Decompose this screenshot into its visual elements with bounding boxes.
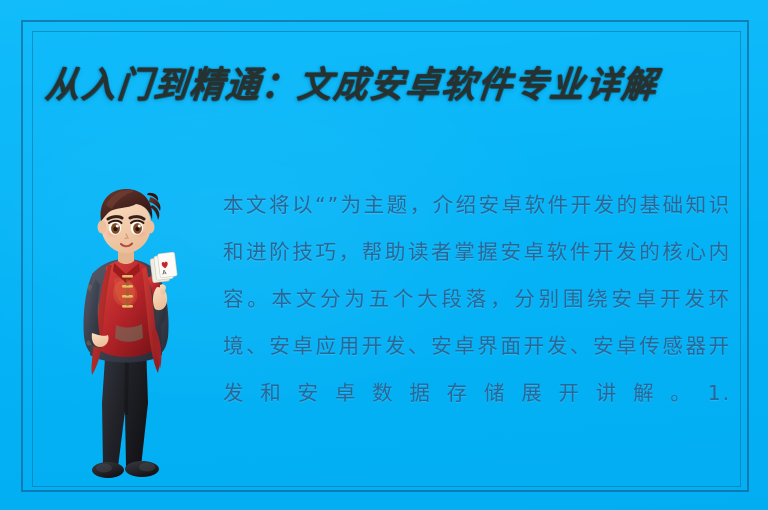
character-illustration: A [62,175,194,480]
poster-canvas: 从入门到精通：文成安卓软件专业详解 [0,0,768,510]
page-title: 从入门到精通：文成安卓软件专业详解 [43,50,739,111]
body-paragraph: 本文将以“”为主题，介绍安卓软件开发的基础知识和进阶技巧，帮助读者掌握安卓软件开… [223,182,731,472]
